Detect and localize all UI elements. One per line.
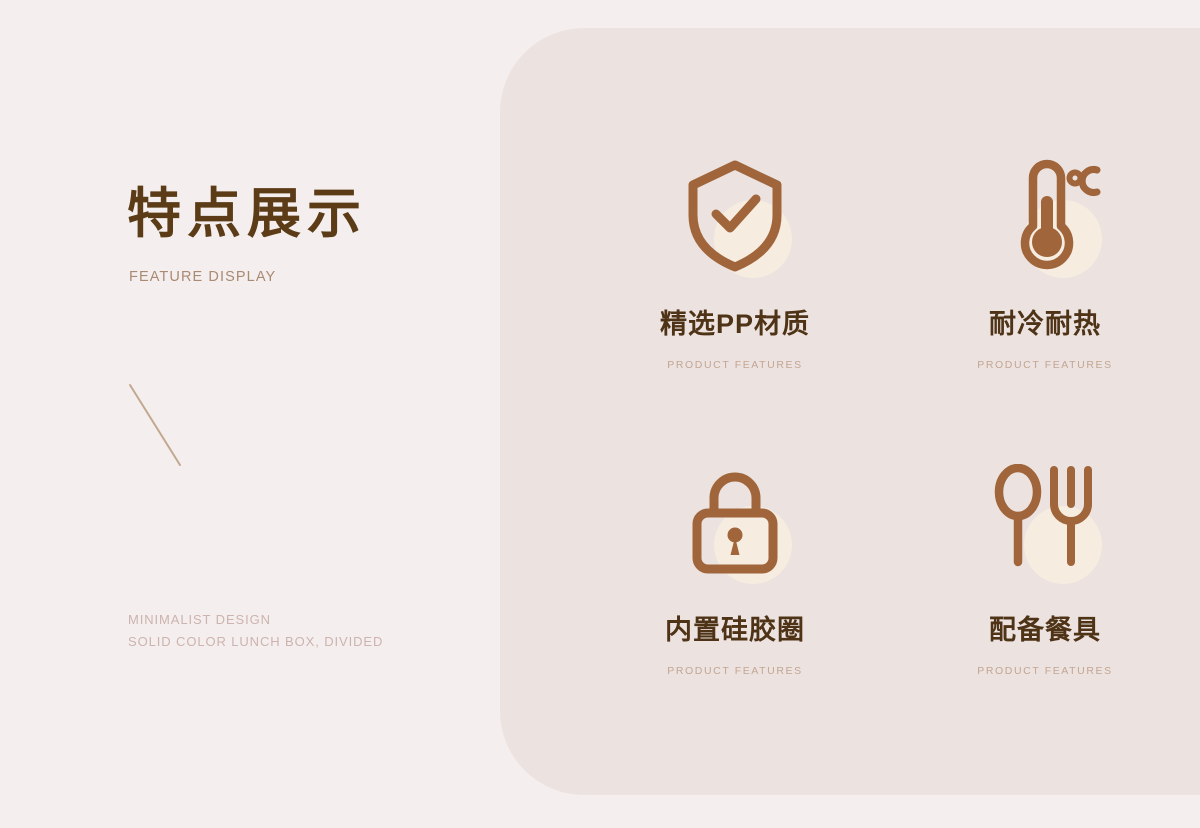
feature-title: 精选PP材质 — [660, 302, 810, 341]
intro-footer-line-2: SOLID COLOR LUNCH BOX, DIVIDED — [128, 631, 383, 653]
feature-icon-wrapper — [980, 150, 1110, 280]
feature-subtitle: PRODUCT FEATURES — [667, 665, 802, 677]
page-subtitle: FEATURE DISPLAY — [129, 269, 467, 285]
shield-check-icon — [683, 157, 787, 273]
diagonal-line-icon — [127, 380, 187, 470]
feature-card-utensils-included[interactable]: 配备餐具 PRODUCT FEATURES — [890, 430, 1200, 720]
feature-card-silicone-ring[interactable]: 内置硅胶圈 PRODUCT FEATURES — [580, 430, 890, 720]
feature-subtitle: PRODUCT FEATURES — [977, 359, 1112, 371]
feature-title: 配备餐具 — [989, 608, 1101, 647]
feature-title: 内置硅胶圈 — [665, 608, 805, 647]
feature-card-pp-material[interactable]: 精选PP材质 PRODUCT FEATURES — [580, 140, 890, 430]
feature-display-page: 特点展示 FEATURE DISPLAY MINIMALIST DESIGN S… — [0, 0, 1200, 828]
intro-footer-line-1: MINIMALIST DESIGN — [128, 609, 383, 631]
feature-icon-wrapper — [670, 150, 800, 280]
thermometer-celsius-icon — [989, 154, 1101, 276]
feature-icon-wrapper — [980, 456, 1110, 586]
feature-icon-wrapper — [670, 456, 800, 586]
page-title: 特点展示 — [127, 183, 467, 247]
feature-grid: 精选PP材质 PRODUCT FEATURES 耐冷耐热 — [580, 140, 1200, 720]
intro-block: 特点展示 FEATURE DISPLAY — [127, 183, 467, 285]
feature-title: 耐冷耐热 — [989, 302, 1101, 341]
intro-footer: MINIMALIST DESIGN SOLID COLOR LUNCH BOX,… — [128, 609, 383, 654]
padlock-icon — [683, 465, 787, 577]
feature-card-temperature-resistant[interactable]: 耐冷耐热 PRODUCT FEATURES — [890, 140, 1200, 430]
feature-subtitle: PRODUCT FEATURES — [667, 359, 802, 371]
spoon-fork-icon — [991, 464, 1099, 578]
feature-subtitle: PRODUCT FEATURES — [977, 665, 1112, 677]
